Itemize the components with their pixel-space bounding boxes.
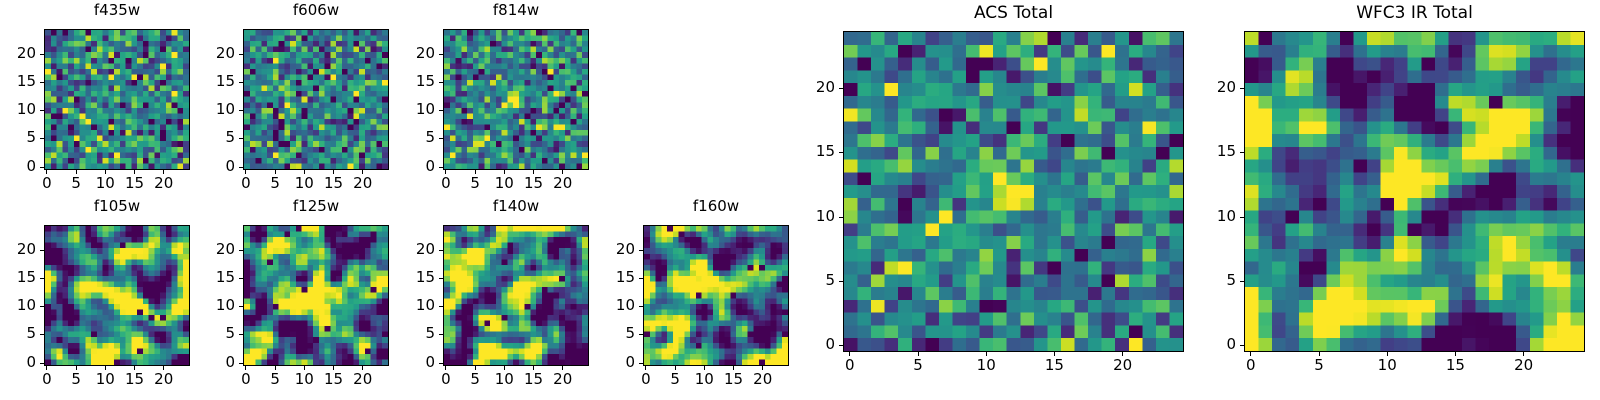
ytick-wfc3-ir-total-0 bbox=[1240, 345, 1244, 346]
ytick-f814w-4 bbox=[439, 54, 443, 55]
xticklabel-acs-total-2: 10 bbox=[961, 358, 1011, 373]
heatmap-f125w[interactable] bbox=[243, 225, 389, 366]
ytick-f606w-4 bbox=[239, 54, 243, 55]
ytick-f125w-2 bbox=[239, 306, 243, 307]
xticklabel-acs-total-1: 5 bbox=[893, 358, 943, 373]
xticklabel-acs-total-4: 20 bbox=[1098, 358, 1148, 373]
heatmap-canvas-f160w bbox=[644, 226, 788, 365]
ytick-f160w-1 bbox=[639, 334, 643, 335]
yticklabel-f160w-3: 15 bbox=[599, 270, 635, 285]
heatmap-canvas-acs-total bbox=[844, 32, 1183, 351]
yticklabel-acs-total-3: 15 bbox=[799, 144, 835, 159]
heatmap-acs-total[interactable] bbox=[843, 31, 1184, 352]
ytick-f606w-0 bbox=[239, 167, 243, 168]
yticklabel-f140w-0: 0 bbox=[399, 355, 435, 370]
xticklabel-wfc3-ir-total-1: 5 bbox=[1294, 358, 1344, 373]
heatmap-canvas-wfc3-ir-total bbox=[1245, 32, 1584, 351]
xticklabel-f125w-4: 20 bbox=[338, 372, 388, 387]
yticklabel-f125w-4: 20 bbox=[199, 242, 235, 257]
panel-title-f140w: f140w bbox=[443, 199, 589, 214]
heatmap-f814w[interactable] bbox=[443, 29, 589, 170]
heatmap-canvas-f814w bbox=[444, 30, 588, 169]
yticklabel-f105w-1: 5 bbox=[0, 326, 36, 341]
ytick-f105w-2 bbox=[40, 306, 44, 307]
panel-f125w: f125w0510152005101520 bbox=[199, 199, 389, 390]
heatmap-canvas-f125w bbox=[244, 226, 388, 365]
xticklabel-f160w-4: 20 bbox=[738, 372, 788, 387]
ytick-f140w-3 bbox=[439, 278, 443, 279]
panel-title-f105w: f105w bbox=[44, 199, 190, 214]
ytick-f125w-3 bbox=[239, 278, 243, 279]
yticklabel-wfc3-ir-total-0: 0 bbox=[1200, 337, 1236, 352]
ytick-f814w-0 bbox=[439, 167, 443, 168]
ytick-acs-total-1 bbox=[839, 281, 843, 282]
ytick-f435w-3 bbox=[40, 82, 44, 83]
ytick-f435w-2 bbox=[40, 110, 44, 111]
xticklabel-f105w-4: 20 bbox=[139, 372, 189, 387]
ytick-f105w-0 bbox=[40, 363, 44, 364]
ytick-f105w-3 bbox=[40, 278, 44, 279]
yticklabel-wfc3-ir-total-1: 5 bbox=[1200, 273, 1236, 288]
ytick-f814w-1 bbox=[439, 138, 443, 139]
xticklabel-wfc3-ir-total-4: 20 bbox=[1499, 358, 1549, 373]
ytick-wfc3-ir-total-1 bbox=[1240, 281, 1244, 282]
yticklabel-f435w-3: 15 bbox=[0, 74, 36, 89]
xticklabel-f814w-4: 20 bbox=[538, 176, 588, 191]
yticklabel-f105w-2: 10 bbox=[0, 298, 36, 313]
ytick-f160w-2 bbox=[639, 306, 643, 307]
ytick-f105w-4 bbox=[40, 250, 44, 251]
panel-title-acs-total: ACS Total bbox=[843, 5, 1184, 22]
heatmap-f105w[interactable] bbox=[44, 225, 190, 366]
xticklabel-wfc3-ir-total-3: 15 bbox=[1430, 358, 1480, 373]
yticklabel-f140w-3: 15 bbox=[399, 270, 435, 285]
yticklabel-f814w-2: 10 bbox=[399, 102, 435, 117]
yticklabel-f435w-1: 5 bbox=[0, 130, 36, 145]
yticklabel-f160w-0: 0 bbox=[599, 355, 635, 370]
yticklabel-f105w-0: 0 bbox=[0, 355, 36, 370]
yticklabel-f606w-0: 0 bbox=[199, 159, 235, 174]
panel-wfc3-ir-total: WFC3 IR Total0510152005101520 bbox=[1200, 5, 1585, 376]
yticklabel-f160w-1: 5 bbox=[599, 326, 635, 341]
heatmap-canvas-f435w bbox=[45, 30, 189, 169]
ytick-f435w-0 bbox=[40, 167, 44, 168]
panel-f160w: f160w0510152005101520 bbox=[599, 199, 789, 390]
ytick-f160w-3 bbox=[639, 278, 643, 279]
yticklabel-f125w-2: 10 bbox=[199, 298, 235, 313]
panel-acs-total: ACS Total0510152005101520 bbox=[799, 5, 1184, 376]
yticklabel-acs-total-1: 5 bbox=[799, 273, 835, 288]
panel-title-wfc3-ir-total: WFC3 IR Total bbox=[1244, 5, 1585, 22]
xticklabel-wfc3-ir-total-2: 10 bbox=[1362, 358, 1412, 373]
yticklabel-f606w-2: 10 bbox=[199, 102, 235, 117]
ytick-f814w-3 bbox=[439, 82, 443, 83]
heatmap-canvas-f105w bbox=[45, 226, 189, 365]
yticklabel-wfc3-ir-total-3: 15 bbox=[1200, 144, 1236, 159]
yticklabel-f435w-2: 10 bbox=[0, 102, 36, 117]
yticklabel-acs-total-4: 20 bbox=[799, 80, 835, 95]
yticklabel-f606w-4: 20 bbox=[199, 46, 235, 61]
heatmap-canvas-f606w bbox=[244, 30, 388, 169]
yticklabel-f105w-4: 20 bbox=[0, 242, 36, 257]
yticklabel-f606w-3: 15 bbox=[199, 74, 235, 89]
panel-f105w: f105w0510152005101520 bbox=[0, 199, 190, 390]
yticklabel-f435w-0: 0 bbox=[0, 159, 36, 174]
yticklabel-acs-total-2: 10 bbox=[799, 209, 835, 224]
ytick-f140w-2 bbox=[439, 306, 443, 307]
yticklabel-f435w-4: 20 bbox=[0, 46, 36, 61]
xticklabel-acs-total-0: 0 bbox=[825, 358, 875, 373]
panel-title-f435w: f435w bbox=[44, 3, 190, 18]
xticklabel-f606w-4: 20 bbox=[338, 176, 388, 191]
ytick-f125w-0 bbox=[239, 363, 243, 364]
ytick-acs-total-2 bbox=[839, 217, 843, 218]
yticklabel-f140w-2: 10 bbox=[399, 298, 435, 313]
ytick-f140w-4 bbox=[439, 250, 443, 251]
ytick-f160w-0 bbox=[639, 363, 643, 364]
yticklabel-f160w-4: 20 bbox=[599, 242, 635, 257]
xticklabel-f140w-4: 20 bbox=[538, 372, 588, 387]
yticklabel-wfc3-ir-total-2: 10 bbox=[1200, 209, 1236, 224]
yticklabel-f814w-0: 0 bbox=[399, 159, 435, 174]
xticklabel-acs-total-3: 15 bbox=[1029, 358, 1079, 373]
panel-title-f606w: f606w bbox=[243, 3, 389, 18]
ytick-f125w-1 bbox=[239, 334, 243, 335]
ytick-acs-total-0 bbox=[839, 345, 843, 346]
ytick-f435w-1 bbox=[40, 138, 44, 139]
panel-title-f125w: f125w bbox=[243, 199, 389, 214]
ytick-f435w-4 bbox=[40, 54, 44, 55]
panel-f606w: f606w0510152005101520 bbox=[199, 3, 389, 194]
yticklabel-f140w-1: 5 bbox=[399, 326, 435, 341]
yticklabel-f814w-1: 5 bbox=[399, 130, 435, 145]
ytick-wfc3-ir-total-3 bbox=[1240, 152, 1244, 153]
yticklabel-f125w-0: 0 bbox=[199, 355, 235, 370]
ytick-acs-total-3 bbox=[839, 152, 843, 153]
yticklabel-f125w-3: 15 bbox=[199, 270, 235, 285]
yticklabel-wfc3-ir-total-4: 20 bbox=[1200, 80, 1236, 95]
yticklabel-f606w-1: 5 bbox=[199, 130, 235, 145]
panel-title-f814w: f814w bbox=[443, 3, 589, 18]
ytick-wfc3-ir-total-4 bbox=[1240, 88, 1244, 89]
yticklabel-f125w-1: 5 bbox=[199, 326, 235, 341]
ytick-acs-total-4 bbox=[839, 88, 843, 89]
ytick-f125w-4 bbox=[239, 250, 243, 251]
heatmap-f435w[interactable] bbox=[44, 29, 190, 170]
heatmap-wfc3-ir-total[interactable] bbox=[1244, 31, 1585, 352]
ytick-f606w-1 bbox=[239, 138, 243, 139]
panel-title-f160w: f160w bbox=[643, 199, 789, 214]
ytick-f140w-1 bbox=[439, 334, 443, 335]
heatmap-f140w[interactable] bbox=[443, 225, 589, 366]
heatmap-f160w[interactable] bbox=[643, 225, 789, 366]
yticklabel-f814w-4: 20 bbox=[399, 46, 435, 61]
ytick-f606w-3 bbox=[239, 82, 243, 83]
ytick-f160w-4 bbox=[639, 250, 643, 251]
yticklabel-f160w-2: 10 bbox=[599, 298, 635, 313]
heatmap-f606w[interactable] bbox=[243, 29, 389, 170]
ytick-f814w-2 bbox=[439, 110, 443, 111]
panel-f814w: f814w0510152005101520 bbox=[399, 3, 589, 194]
heatmap-canvas-f140w bbox=[444, 226, 588, 365]
yticklabel-f814w-3: 15 bbox=[399, 74, 435, 89]
yticklabel-f105w-3: 15 bbox=[0, 270, 36, 285]
xticklabel-wfc3-ir-total-0: 0 bbox=[1226, 358, 1276, 373]
panel-f435w: f435w0510152005101520 bbox=[0, 3, 190, 194]
ytick-f606w-2 bbox=[239, 110, 243, 111]
yticklabel-acs-total-0: 0 bbox=[799, 337, 835, 352]
yticklabel-f140w-4: 20 bbox=[399, 242, 435, 257]
ytick-wfc3-ir-total-2 bbox=[1240, 217, 1244, 218]
ytick-f105w-1 bbox=[40, 334, 44, 335]
panel-f140w: f140w0510152005101520 bbox=[399, 199, 589, 390]
xticklabel-f435w-4: 20 bbox=[139, 176, 189, 191]
ytick-f140w-0 bbox=[439, 363, 443, 364]
